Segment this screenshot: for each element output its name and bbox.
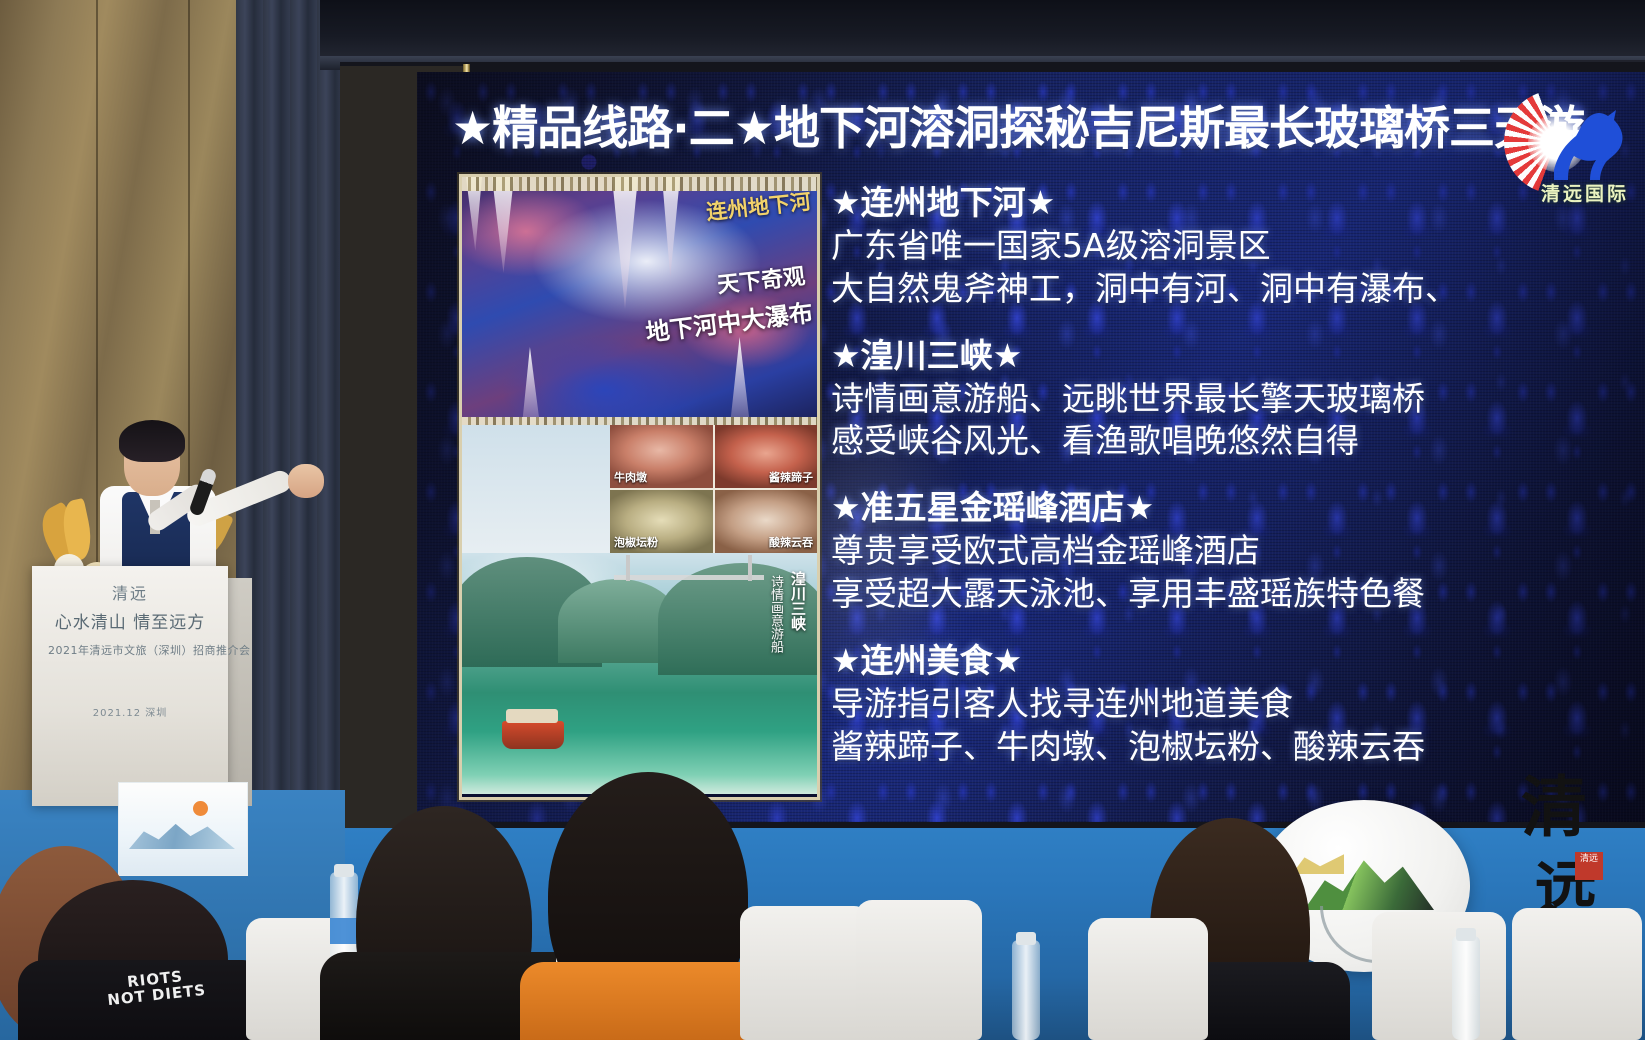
section-line: 感受峡谷风光、看渔歌唱晚悠然自得 bbox=[831, 420, 1531, 463]
section-heading: ★准五星金瑶峰酒店★ bbox=[831, 487, 1531, 530]
section-line: 酱辣蹄子、牛肉墩、泡椒坛粉、酸辣云吞 bbox=[831, 726, 1531, 769]
photo-gap bbox=[462, 425, 610, 553]
cave-overlay-1: 天下奇观 bbox=[716, 258, 807, 299]
podium-calligraphy-top: 清远 bbox=[48, 580, 212, 604]
slide-section: ★连州美食★ 导游指引客人找寻连州地道美食 酱辣蹄子、牛肉墩、泡椒坛粉、酸辣云吞 bbox=[831, 640, 1531, 769]
screenshot-root: ★精品线路·二★地下河溶洞探秘吉尼斯最长玻璃桥三天游 清远国际 连州地下河 天下… bbox=[0, 0, 1645, 1040]
cave-watermark: 连州地下河 bbox=[705, 186, 813, 227]
food-label: 泡椒坛粉 bbox=[614, 534, 658, 550]
slide-section: ★湟川三峡★ 诗情画意游船、远眺世界最长擎天玻璃桥 感受峡谷风光、看渔歌唱晚悠然… bbox=[831, 335, 1531, 464]
bottle-cap bbox=[334, 864, 354, 877]
section-line: 广东省唯一国家5A级溶洞景区 bbox=[831, 225, 1531, 268]
horse-icon bbox=[1540, 100, 1636, 184]
river-photo: 湟川三峡 诗情画意游船 bbox=[462, 553, 817, 794]
river-caption: 湟川三峡 bbox=[788, 571, 809, 631]
wall-calligraphy-char-1: 清 bbox=[1521, 778, 1587, 837]
slide-content: ★精品线路·二★地下河溶洞探秘吉尼斯最长玻璃桥三天游 清远国际 连州地下河 天下… bbox=[417, 72, 1645, 822]
tour-boat-icon bbox=[502, 721, 564, 749]
cave-overlay-2: 地下河中大瀑布 bbox=[643, 293, 814, 348]
podium-side bbox=[228, 578, 252, 806]
food-label: 酱辣蹄子 bbox=[769, 469, 813, 485]
food-photo-grid: 牛肉墩 酱辣蹄子 泡椒坛粉 酸辣云吞 bbox=[610, 425, 817, 553]
logo-caption: 清远国际 bbox=[1524, 179, 1645, 206]
food-label: 牛肉墩 bbox=[614, 469, 647, 485]
podium-event-title: 2021年清远市文旅（深圳）招商推介会 bbox=[48, 642, 212, 658]
food-photo: 酸辣云吞 bbox=[715, 490, 818, 553]
section-line: 大自然鬼斧神工，洞中有河、洞中有瀑布、 bbox=[831, 268, 1531, 311]
podium-sign: 清远 心水清山 情至远方 2021年清远市文旅（深圳）招商推介会 2021.12… bbox=[32, 566, 228, 806]
food-photo: 牛肉墩 bbox=[610, 425, 713, 488]
section-line: 尊贵享受欧式高档金瑶峰酒店 bbox=[831, 530, 1531, 573]
section-line: 享受超大露天泳池、享用丰盛瑶族特色餐 bbox=[831, 573, 1531, 616]
mini-banner-mountain-icon bbox=[129, 815, 235, 849]
poster-panel: 连州地下河 天下奇观 地下河中大瀑布 牛肉墩 酱辣蹄子 泡椒坛粉 酸辣云吞 bbox=[459, 174, 820, 800]
water-bottle bbox=[1012, 940, 1040, 1040]
glass-bridge-icon bbox=[614, 575, 764, 580]
section-heading: ★连州美食★ bbox=[831, 640, 1531, 683]
podium-artwork: 清远 心水清山 情至远方 2021年清远市文旅（深圳）招商推介会 bbox=[48, 580, 212, 658]
water-bottle bbox=[1452, 936, 1480, 1040]
bottle-cap bbox=[1456, 928, 1476, 941]
section-heading: ★湟川三峡★ bbox=[831, 335, 1531, 378]
section-line: 诗情画意游船、远眺世界最长擎天玻璃桥 bbox=[831, 378, 1531, 421]
podium-date: 2021.12 深圳 bbox=[48, 704, 212, 719]
bottle-cap bbox=[1016, 932, 1036, 945]
audience-chair bbox=[1372, 912, 1506, 1040]
mini-banner bbox=[118, 782, 248, 876]
audience-chair bbox=[740, 906, 870, 1040]
speaker-hand bbox=[288, 464, 324, 498]
seal-stamp: 清远 bbox=[1575, 852, 1603, 880]
slide-section: ★连州地下河★ 广东省唯一国家5A级溶洞景区 大自然鬼斧神工，洞中有河、洞中有瀑… bbox=[831, 182, 1531, 311]
ink-yellow-hill bbox=[1292, 848, 1344, 874]
lace-border-top bbox=[462, 177, 817, 191]
river-subcaption: 诗情画意游船 bbox=[766, 575, 785, 653]
section-line: 导游指引客人找寻连州地道美食 bbox=[831, 683, 1531, 726]
speaker-hair bbox=[119, 420, 185, 462]
section-heading: ★连州地下河★ bbox=[831, 182, 1531, 225]
bottle-label bbox=[330, 918, 358, 944]
cave-photo: 连州地下河 天下奇观 地下河中大瀑布 bbox=[462, 177, 817, 425]
boat-canopy bbox=[506, 709, 558, 723]
food-photo: 泡椒坛粉 bbox=[610, 490, 713, 553]
slide-section: ★准五星金瑶峰酒店★ 尊贵享受欧式高档金瑶峰酒店 享受超大露天泳池、享用丰盛瑶族… bbox=[831, 487, 1531, 616]
audience-chair bbox=[856, 900, 982, 1040]
slide-title: ★精品线路·二★地下河溶洞探秘吉尼斯最长玻璃桥三天游 bbox=[452, 104, 1572, 154]
food-photo: 酱辣蹄子 bbox=[715, 425, 818, 488]
slide-text-column: ★连州地下河★ 广东省唯一国家5A级溶洞景区 大自然鬼斧神工，洞中有河、洞中有瀑… bbox=[831, 182, 1531, 793]
podium-calligraphy-main: 心水清山 情至远方 bbox=[48, 608, 212, 633]
ink-green-mountain-icon bbox=[1304, 848, 1434, 910]
food-label: 酸辣云吞 bbox=[769, 534, 813, 550]
mini-banner-sun-icon bbox=[193, 801, 208, 816]
audience-chair bbox=[1088, 918, 1208, 1040]
audience-chair bbox=[1512, 908, 1642, 1040]
